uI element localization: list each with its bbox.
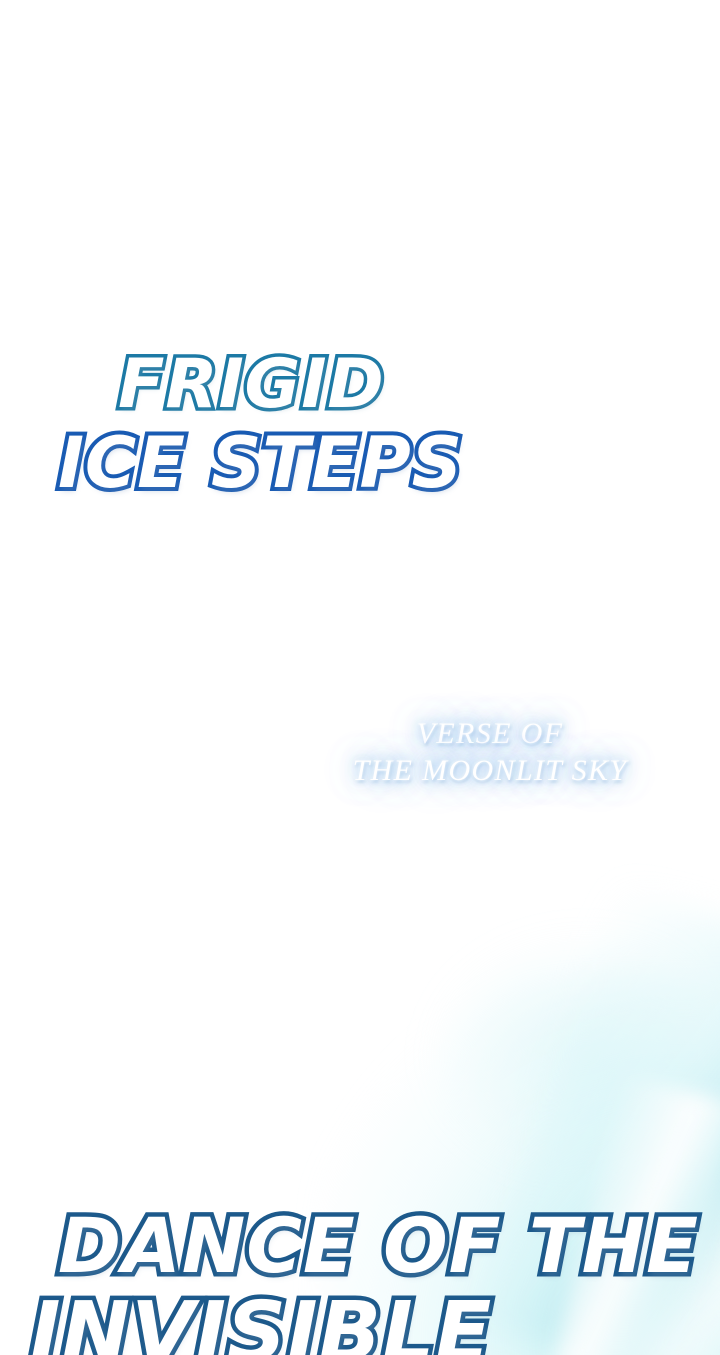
skill-three-line-2: INVISIBLE MOON bbox=[30, 1292, 720, 1355]
skill-two-line-2: THE MOONLIT SKY bbox=[300, 753, 680, 790]
skill-three-line-1: DANCE OF THE bbox=[58, 1208, 720, 1284]
skill-title-frigid-ice-steps: FRIGID ICE STEPS bbox=[0, 352, 470, 497]
background-effects-layer bbox=[0, 0, 720, 1355]
skill-one-line-1-row: FRIGID bbox=[0, 352, 470, 419]
skill-two-line-1: VERSE OF bbox=[300, 716, 680, 753]
skill-title-dance-of-the-invisible-moon: DANCE OF THE INVISIBLE MOON bbox=[0, 1208, 720, 1355]
comic-panel: FRIGID ICE STEPS VERSE OF THE MOONLIT SK… bbox=[0, 0, 720, 1355]
skill-one-line-1: FRIGID bbox=[118, 352, 470, 419]
skill-one-line-2-row: ICE STEPS bbox=[0, 429, 470, 498]
skill-title-verse-of-the-moonlit-sky: VERSE OF THE MOONLIT SKY bbox=[300, 716, 680, 789]
skill-one-line-2: ICE STEPS bbox=[58, 429, 470, 498]
moon-glow-effect bbox=[430, 935, 690, 1175]
